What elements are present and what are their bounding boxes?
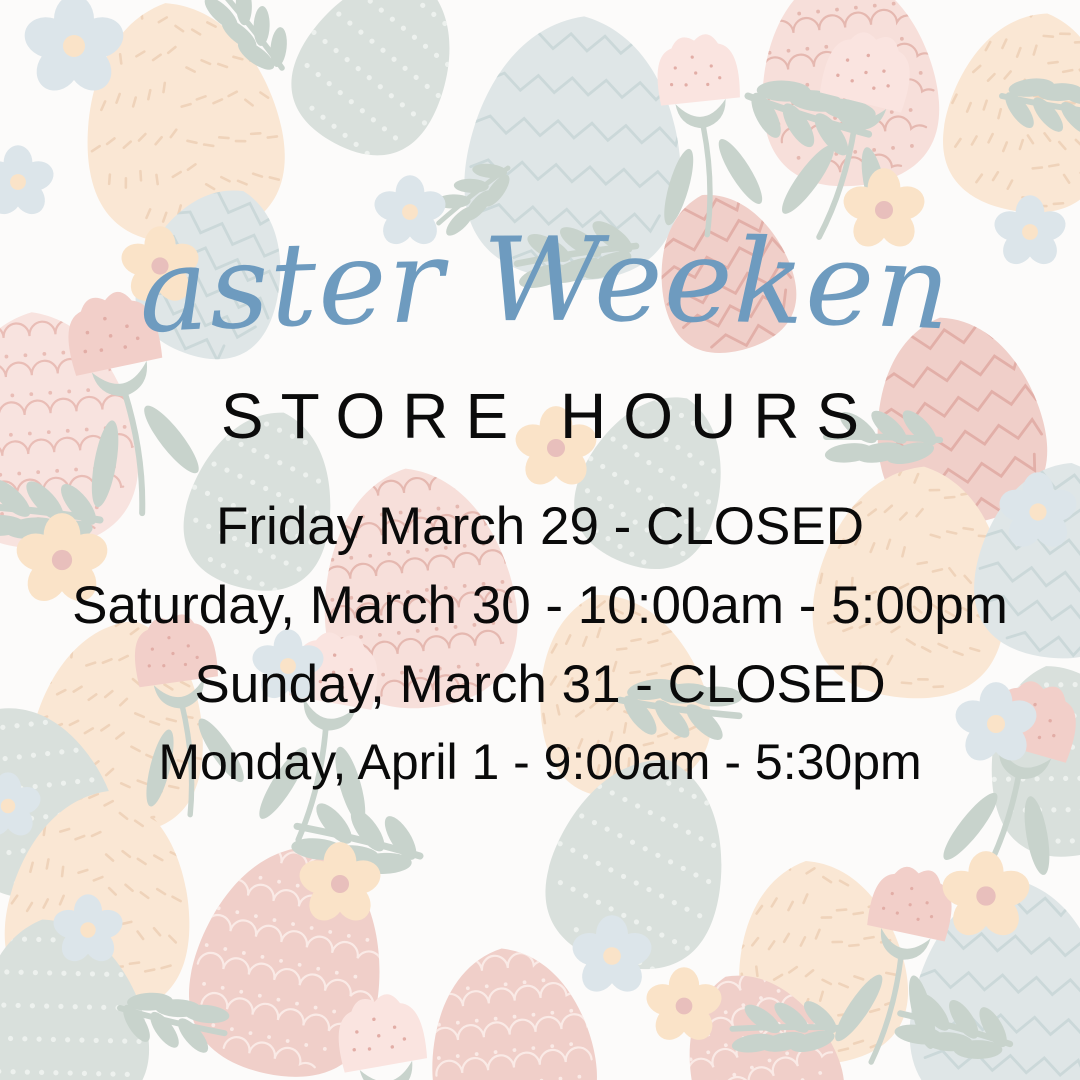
headline-text: Easter Weekend	[90, 222, 954, 360]
easter-hours-poster: Easter Weekend STORE HOURS Friday March …	[0, 0, 1080, 1080]
headline-easter-weekend: Easter Weekend	[0, 222, 1080, 362]
hours-line-sunday: Sunday, March 31 - CLOSED	[0, 658, 1080, 711]
hours-line-friday: Friday March 29 - CLOSED	[0, 500, 1080, 553]
hours-line-saturday: Saturday, March 30 - 10:00am - 5:00pm	[0, 579, 1080, 632]
subheading-store-hours: STORE HOURS	[204, 384, 876, 448]
poster-content: Easter Weekend STORE HOURS Friday March …	[0, 0, 1080, 1080]
hours-list: Friday March 29 - CLOSED Saturday, March…	[0, 500, 1080, 787]
script-headline-svg: Easter Weekend	[90, 222, 990, 372]
hours-line-monday: Monday, April 1 - 9:00am - 5:30pm	[0, 737, 1080, 787]
